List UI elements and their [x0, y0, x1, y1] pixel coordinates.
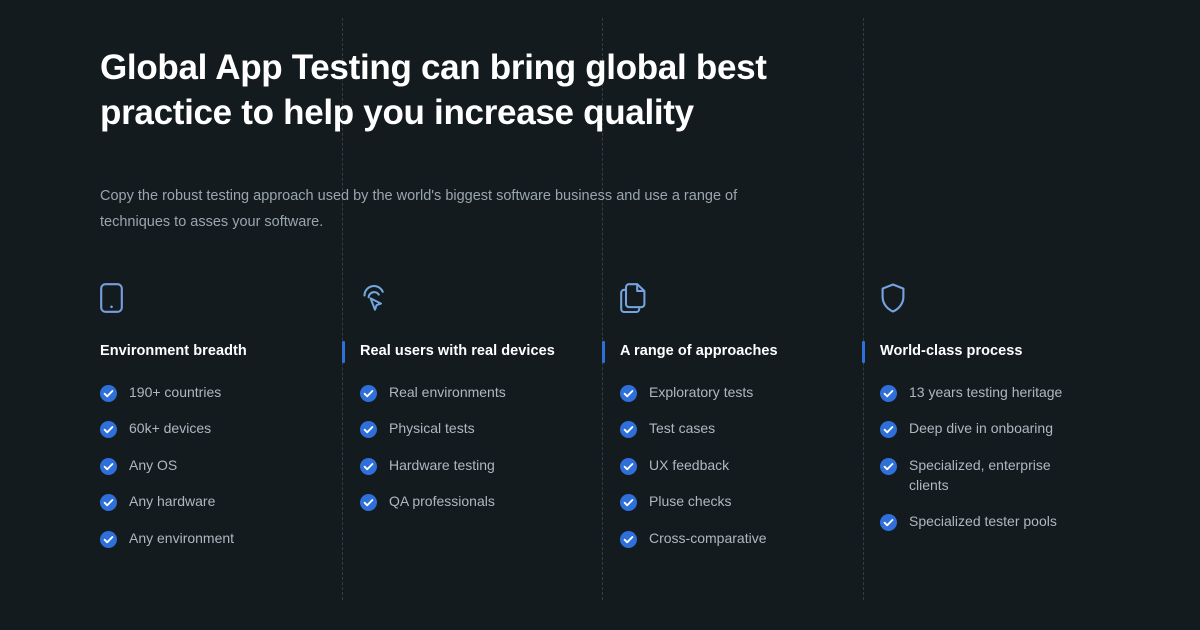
cursor-click-signal-icon [360, 283, 620, 323]
feature-column: World-class process 13 years testing her… [880, 283, 1140, 565]
check-circle-icon [620, 531, 637, 548]
check-circle-icon [880, 385, 897, 402]
check-circle-icon [620, 494, 637, 511]
column-accent-bar [602, 341, 605, 363]
column-accent-bar [342, 341, 345, 363]
list-item: UX feedback [620, 456, 880, 476]
list-item: Pluse checks [620, 492, 880, 512]
check-circle-icon [100, 494, 117, 511]
check-circle-icon [620, 421, 637, 438]
check-circle-icon [360, 458, 377, 475]
shield-icon [880, 283, 1140, 323]
list-item: Any hardware [100, 492, 360, 512]
list-item: QA professionals [360, 492, 620, 512]
check-circle-icon [620, 458, 637, 475]
feature-column-title-label: Real users with real devices [360, 343, 555, 360]
list-item-label: Real environments [389, 383, 506, 403]
list-item-label: Specialized tester pools [909, 512, 1057, 532]
list-item: Any OS [100, 456, 360, 476]
check-circle-icon [880, 421, 897, 438]
check-circle-icon [100, 385, 117, 402]
list-item: Deep dive in onboaring [880, 419, 1140, 439]
list-item: Test cases [620, 419, 880, 439]
list-item-label: Any hardware [129, 492, 215, 512]
feature-column-title-label: A range of approaches [620, 343, 778, 360]
column-accent-bar [862, 341, 865, 363]
list-item-label: 60k+ devices [129, 419, 211, 439]
list-item-label: Physical tests [389, 419, 475, 439]
check-circle-icon [100, 421, 117, 438]
check-circle-icon [620, 385, 637, 402]
list-item: Specialized, enterprise clients [880, 456, 1140, 496]
list-item-label: Pluse checks [649, 492, 731, 512]
list-item-label: 13 years testing heritage [909, 383, 1062, 403]
list-item-label: Any environment [129, 529, 234, 549]
check-circle-icon [360, 421, 377, 438]
check-circle-icon [100, 531, 117, 548]
feature-column-title: A range of approaches [620, 343, 880, 361]
list-item-label: 190+ countries [129, 383, 221, 403]
list-item: Real environments [360, 383, 620, 403]
check-circle-icon [100, 458, 117, 475]
list-item: Hardware testing [360, 456, 620, 476]
feature-column-title-label: Environment breadth [100, 343, 247, 360]
list-item-label: Deep dive in onboaring [909, 419, 1053, 439]
list-item-label: UX feedback [649, 456, 729, 476]
check-circle-icon [880, 514, 897, 531]
copy-documents-icon [620, 283, 880, 323]
feature-columns: Environment breadth 190+ countries 60k+ … [100, 283, 1180, 565]
list-item-label: Any OS [129, 456, 177, 476]
list-item: Physical tests [360, 419, 620, 439]
list-item: Exploratory tests [620, 383, 880, 403]
feature-list: Real environments Physical tests Hardwar… [360, 383, 620, 512]
feature-column: Real users with real devices Real enviro… [360, 283, 620, 565]
feature-list: Exploratory tests Test cases UX feedback… [620, 383, 880, 548]
list-item-label: Specialized, enterprise clients [909, 456, 1084, 496]
page-subtitle: Copy the robust testing approach used by… [100, 183, 790, 236]
list-item-label: Hardware testing [389, 456, 495, 476]
feature-column: Environment breadth 190+ countries 60k+ … [100, 283, 360, 565]
feature-list: 190+ countries 60k+ devices Any OS Any h… [100, 383, 360, 548]
list-item-label: QA professionals [389, 492, 495, 512]
list-item-label: Test cases [649, 419, 715, 439]
list-item: 60k+ devices [100, 419, 360, 439]
check-circle-icon [360, 385, 377, 402]
list-item-label: Exploratory tests [649, 383, 753, 403]
list-item: Cross-comparative [620, 529, 880, 549]
feature-column: A range of approaches Exploratory tests … [620, 283, 880, 565]
feature-column-title: World-class process [880, 343, 1140, 361]
feature-list: 13 years testing heritage Deep dive in o… [880, 383, 1140, 532]
mobile-phone-icon [100, 283, 360, 323]
feature-column-title: Environment breadth [100, 343, 360, 361]
list-item: Specialized tester pools [880, 512, 1140, 532]
feature-column-title: Real users with real devices [360, 343, 620, 361]
list-item: 190+ countries [100, 383, 360, 403]
list-item-label: Cross-comparative [649, 529, 766, 549]
list-item: 13 years testing heritage [880, 383, 1140, 403]
check-circle-icon [360, 494, 377, 511]
check-circle-icon [880, 458, 897, 475]
feature-column-title-label: World-class process [880, 343, 1023, 360]
list-item: Any environment [100, 529, 360, 549]
page-title: Global App Testing can bring global best… [100, 46, 800, 136]
